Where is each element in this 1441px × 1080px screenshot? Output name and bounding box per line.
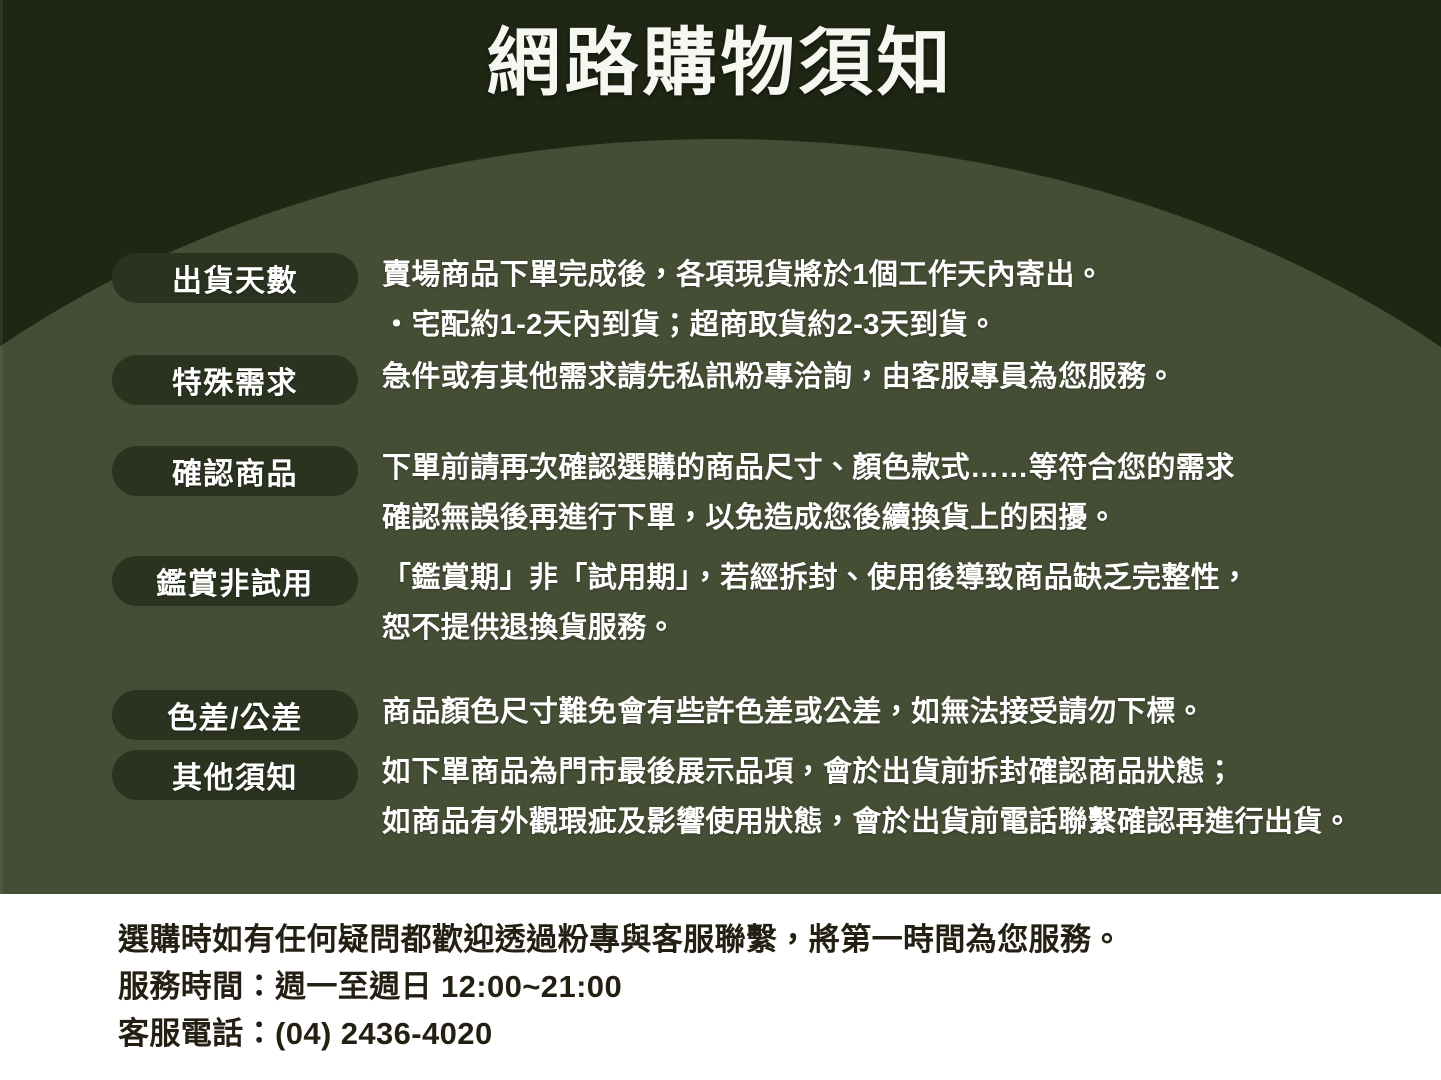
section-label-pill: 確認商品 xyxy=(112,446,358,496)
section-label-pill: 其他須知 xyxy=(112,750,358,800)
section-body: 急件或有其他需求請先私訊粉專洽詢，由客服專員為您服務。 xyxy=(382,352,1422,402)
section-body: 商品顏色尺寸難免會有些許色差或公差，如無法接受請勿下標。 xyxy=(382,687,1422,737)
section-line: 商品顏色尺寸難免會有些許色差或公差，如無法接受請勿下標。 xyxy=(382,687,1422,737)
section-label-pill: 色差/公差 xyxy=(112,690,358,740)
section-line: 如商品有外觀瑕疵及影響使用狀態，會於出貨前電話聯繫確認再進行出貨。 xyxy=(382,797,1422,847)
notice-sections: 出貨天數 賣場商品下單完成後，各項現貨將於1個工作天內寄出。 ・宅配約1-2天內… xyxy=(0,0,1441,894)
service-phone: 客服電話：(04) 2436-4020 xyxy=(118,1010,1418,1057)
section-label-pill: 鑑賞非試用 xyxy=(112,556,358,606)
section-line: 急件或有其他需求請先私訊粉專洽詢，由客服專員為您服務。 xyxy=(382,352,1422,402)
contact-line-intro: 選購時如有任何疑問都歡迎透過粉專與客服聯繫，將第一時間為您服務。 xyxy=(118,916,1418,963)
section-body: 如下單商品為門市最後展示品項，會於出貨前拆封確認商品狀態； 如商品有外觀瑕疵及影… xyxy=(382,747,1422,847)
section-line: 下單前請再次確認選購的商品尺寸、顏色款式……等符合您的需求 xyxy=(382,443,1422,493)
footer-panel: 選購時如有任何疑問都歡迎透過粉專與客服聯繫，將第一時間為您服務。 服務時間：週一… xyxy=(0,894,1441,1080)
section-line: ・宅配約1-2天內到貨；超商取貨約2-3天到貨。 xyxy=(382,300,1422,350)
section-line: 「鑑賞期」非「試用期」，若經拆封、使用後導致商品缺乏完整性， xyxy=(382,553,1422,603)
service-hours: 服務時間：週一至週日 12:00~21:00 xyxy=(118,963,1418,1010)
contact-info: 選購時如有任何疑問都歡迎透過粉專與客服聯繫，將第一時間為您服務。 服務時間：週一… xyxy=(118,916,1418,1057)
section-line: 如下單商品為門市最後展示品項，會於出貨前拆封確認商品狀態； xyxy=(382,747,1422,797)
section-label-pill: 出貨天數 xyxy=(112,253,358,303)
section-line: 賣場商品下單完成後，各項現貨將於1個工作天內寄出。 xyxy=(382,250,1422,300)
section-body: 「鑑賞期」非「試用期」，若經拆封、使用後導致商品缺乏完整性， 恕不提供退換貨服務… xyxy=(382,553,1422,653)
section-line: 確認無誤後再進行下單，以免造成您後續換貨上的困擾。 xyxy=(382,493,1422,543)
section-label-pill: 特殊需求 xyxy=(112,355,358,405)
section-body: 賣場商品下單完成後，各項現貨將於1個工作天內寄出。 ・宅配約1-2天內到貨；超商… xyxy=(382,250,1422,350)
notice-page: 網路購物須知 出貨天數 賣場商品下單完成後，各項現貨將於1個工作天內寄出。 ・宅… xyxy=(0,0,1441,1080)
section-body: 下單前請再次確認選購的商品尺寸、顏色款式……等符合您的需求 確認無誤後再進行下單… xyxy=(382,443,1422,543)
section-line: 恕不提供退換貨服務。 xyxy=(382,603,1422,653)
